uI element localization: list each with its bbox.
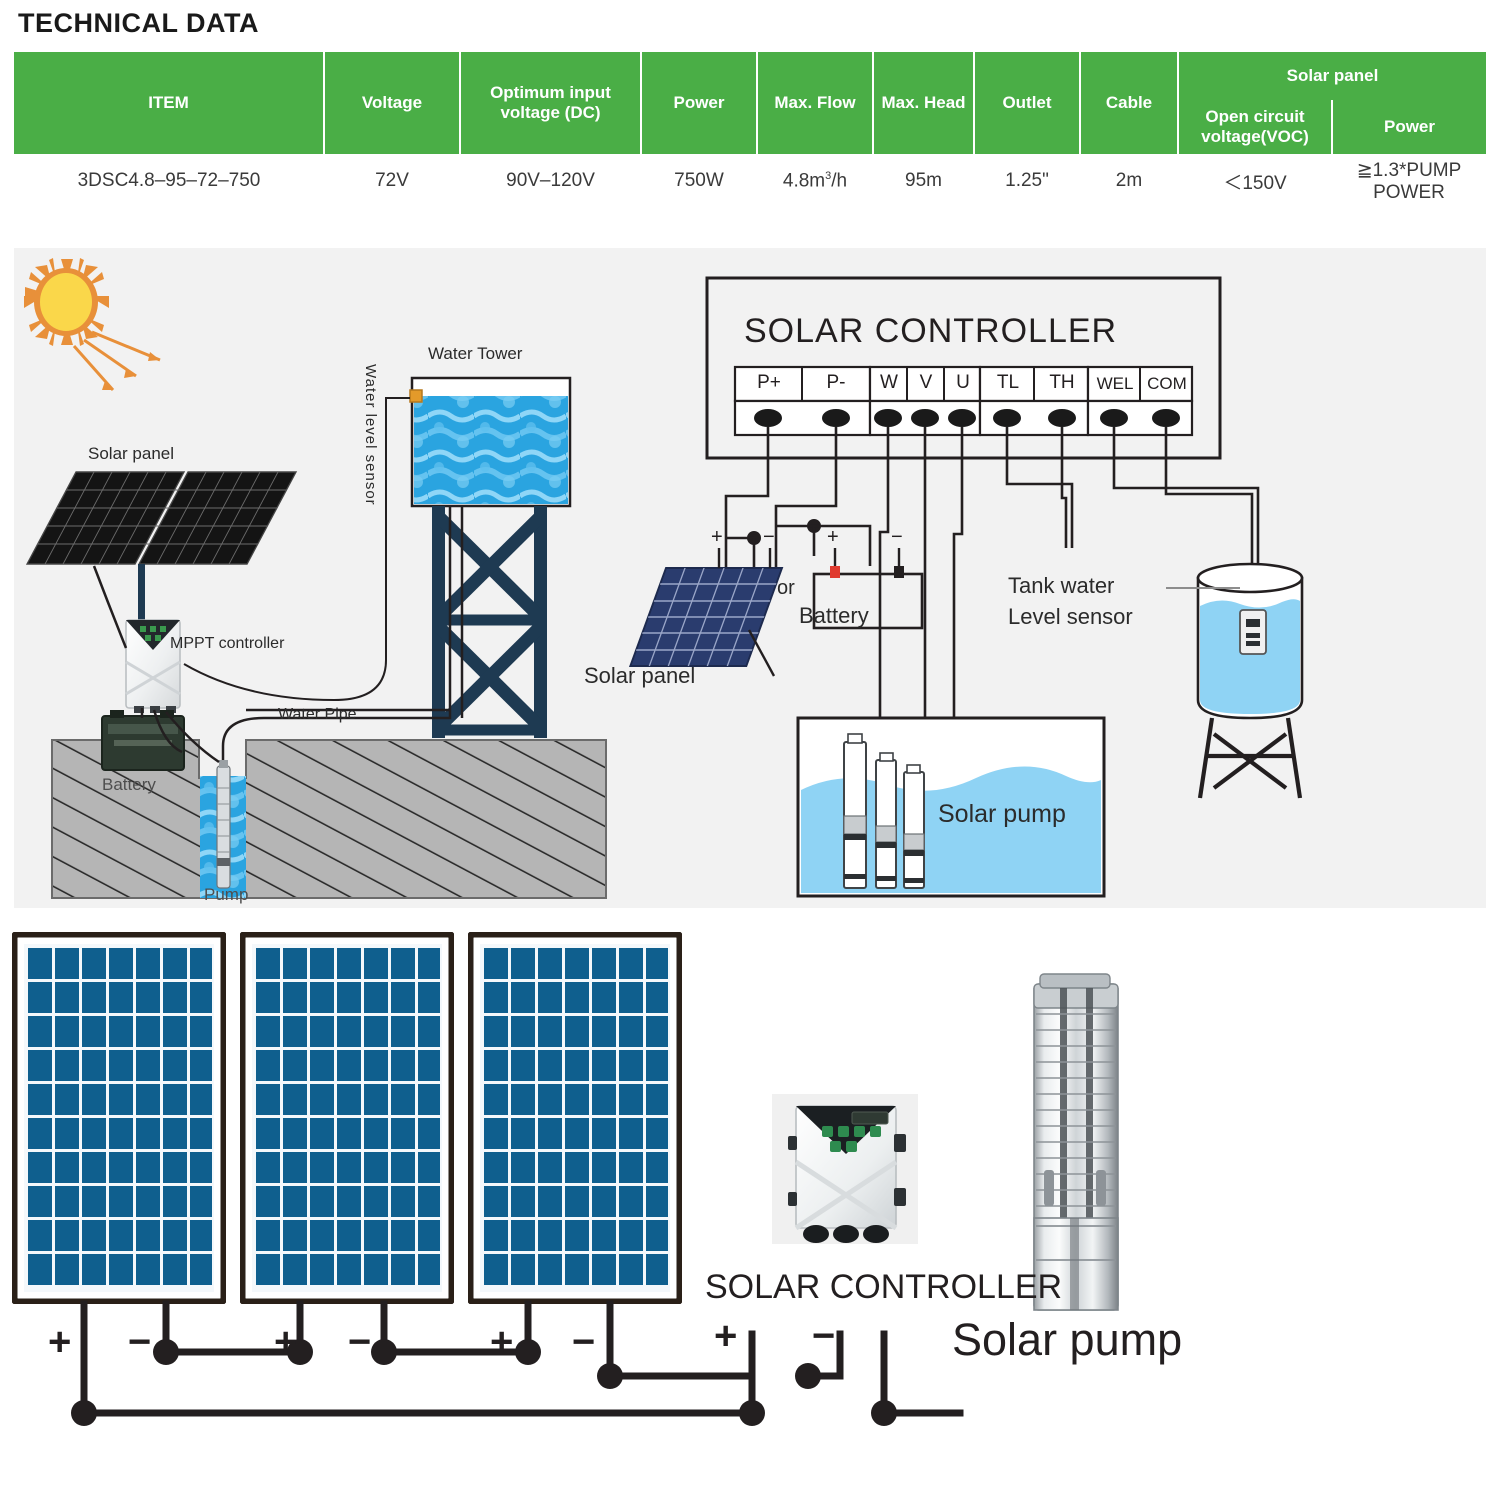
solar-controller-device-graphic bbox=[772, 1094, 918, 1244]
cell-item: 3DSC4.8–95–72–750 bbox=[14, 155, 324, 206]
label-solar-pump-bottom: Solar pump bbox=[952, 1314, 1182, 1366]
label-solar-panel-right: Solar panel bbox=[584, 663, 695, 689]
solar-pump-device-graphic bbox=[1034, 974, 1118, 1310]
page-title: TECHNICAL DATA bbox=[18, 8, 259, 39]
controller-plus-sign: + bbox=[714, 1316, 737, 1356]
label-pump-left: Pump bbox=[204, 885, 248, 905]
wiring-diagram-panel: + − + − + − SOLAR CONTROLLER + − Solar p… bbox=[0, 918, 1500, 1500]
schematic-panel-minus: − bbox=[763, 526, 775, 549]
label-water-tower: Water Tower bbox=[428, 344, 522, 364]
label-water-pipe: Water Pipe bbox=[278, 706, 357, 724]
terminal-label-p-minus: P- bbox=[803, 372, 869, 394]
col-header-voltage: Voltage bbox=[324, 52, 460, 155]
terminal-label-com: COM bbox=[1141, 374, 1193, 394]
wiring-diagram-graphics bbox=[0, 918, 1500, 1500]
label-battery-left: Battery bbox=[102, 775, 156, 795]
col-header-power: Power bbox=[641, 52, 757, 155]
panel3-minus-sign: − bbox=[572, 1322, 595, 1362]
sun-rays-icon bbox=[74, 332, 160, 390]
col-header-cable: Cable bbox=[1080, 52, 1178, 155]
terminal-label-tl: TL bbox=[981, 372, 1035, 394]
controller-minus-sign: − bbox=[812, 1316, 835, 1356]
label-solar-panel-left: Solar panel bbox=[88, 444, 174, 464]
cell-open-circuit-voltage: ＜150V bbox=[1178, 155, 1332, 206]
col-header-optimum-input-voltage: Optimum input voltage (DC) bbox=[460, 52, 641, 155]
label-mppt-controller: MPPT controller bbox=[170, 635, 284, 653]
solar-controller-box bbox=[707, 278, 1220, 458]
label-level-sensor: Level sensor bbox=[1008, 604, 1133, 630]
col-header-panel-power: Power bbox=[1332, 100, 1486, 155]
pv-panel-2 bbox=[242, 934, 452, 1302]
label-solar-controller-title: SOLAR CONTROLLER bbox=[744, 312, 1117, 351]
panel3-plus-sign: + bbox=[490, 1322, 513, 1362]
terminal-label-wel: WEL bbox=[1089, 374, 1141, 394]
controller-lead-wires bbox=[726, 427, 1258, 718]
col-header-outlet: Outlet bbox=[974, 52, 1080, 155]
pv-panel-3 bbox=[470, 934, 680, 1302]
terminal-label-u: U bbox=[945, 372, 981, 394]
col-header-max-head: Max. Head bbox=[873, 52, 974, 155]
label-or: or bbox=[777, 577, 795, 600]
pump-left-graphic bbox=[217, 760, 230, 888]
wire-junction-dots bbox=[747, 519, 821, 545]
terminal-label-v: V bbox=[908, 372, 944, 394]
solar-panel-right-graphic bbox=[630, 548, 782, 676]
terminal-label-th: TH bbox=[1035, 372, 1089, 394]
schematic-panel-plus: + bbox=[711, 526, 723, 549]
max-flow-unit: /h bbox=[831, 170, 847, 191]
col-header-item: ITEM bbox=[14, 52, 324, 155]
panel2-plus-sign: + bbox=[274, 1322, 297, 1362]
technical-data-table: ITEM Voltage Optimum input voltage (DC) … bbox=[14, 52, 1486, 206]
cell-max-flow: 4.8m3/h bbox=[757, 155, 873, 206]
water-tower-graphic bbox=[410, 378, 570, 738]
cell-max-head: 95m bbox=[873, 155, 974, 206]
terminal-label-p-plus: P+ bbox=[736, 372, 802, 394]
col-header-max-flow: Max. Flow bbox=[757, 52, 873, 155]
col-header-open-circuit-voltage: Open circuit voltage(VOC) bbox=[1178, 100, 1332, 155]
cell-cable: 2m bbox=[1080, 155, 1178, 206]
schematic-battery-plus: + bbox=[827, 526, 839, 549]
cell-optimum-input-voltage: 90V–120V bbox=[460, 155, 641, 206]
cell-panel-power: ≧1.3*PUMP POWER bbox=[1332, 155, 1486, 206]
table-row: 3DSC4.8–95–72–750 72V 90V–120V 750W 4.8m… bbox=[14, 155, 1486, 206]
table-header-row-1: ITEM Voltage Optimum input voltage (DC) … bbox=[14, 52, 1486, 100]
solar-panel-left-graphic bbox=[27, 472, 296, 636]
panel1-plus-sign: + bbox=[48, 1322, 71, 1362]
tower-level-sensor-icon bbox=[410, 390, 422, 402]
cell-outlet: 1.25" bbox=[974, 155, 1080, 206]
mppt-controller-graphic bbox=[126, 620, 180, 713]
tank-water-level-sensor-graphic bbox=[1198, 564, 1302, 798]
panel2-minus-sign: − bbox=[348, 1322, 371, 1362]
label-water-level-sensor: Water level sensor bbox=[362, 364, 379, 506]
terminal-label-w: W bbox=[871, 372, 907, 394]
system-diagram-panel: Solar panel Water Tower Water level sens… bbox=[14, 248, 1486, 908]
label-solar-pump: Solar pump bbox=[938, 800, 1066, 829]
cell-voltage: 72V bbox=[324, 155, 460, 206]
pv-panel-1 bbox=[14, 934, 224, 1302]
max-flow-value: 4.8m bbox=[783, 170, 825, 191]
cell-power: 750W bbox=[641, 155, 757, 206]
label-battery-right: Battery bbox=[799, 603, 869, 629]
col-header-solar-panel: Solar panel bbox=[1178, 52, 1486, 100]
wire-panel-to-mppt bbox=[94, 566, 126, 648]
label-solar-controller-bottom: SOLAR CONTROLLER bbox=[705, 1268, 1062, 1307]
panel1-minus-sign: − bbox=[128, 1322, 151, 1362]
schematic-battery-minus: − bbox=[891, 526, 903, 549]
level-sensor-device-icon bbox=[1240, 610, 1266, 654]
label-tank-water: Tank water bbox=[1008, 573, 1114, 599]
